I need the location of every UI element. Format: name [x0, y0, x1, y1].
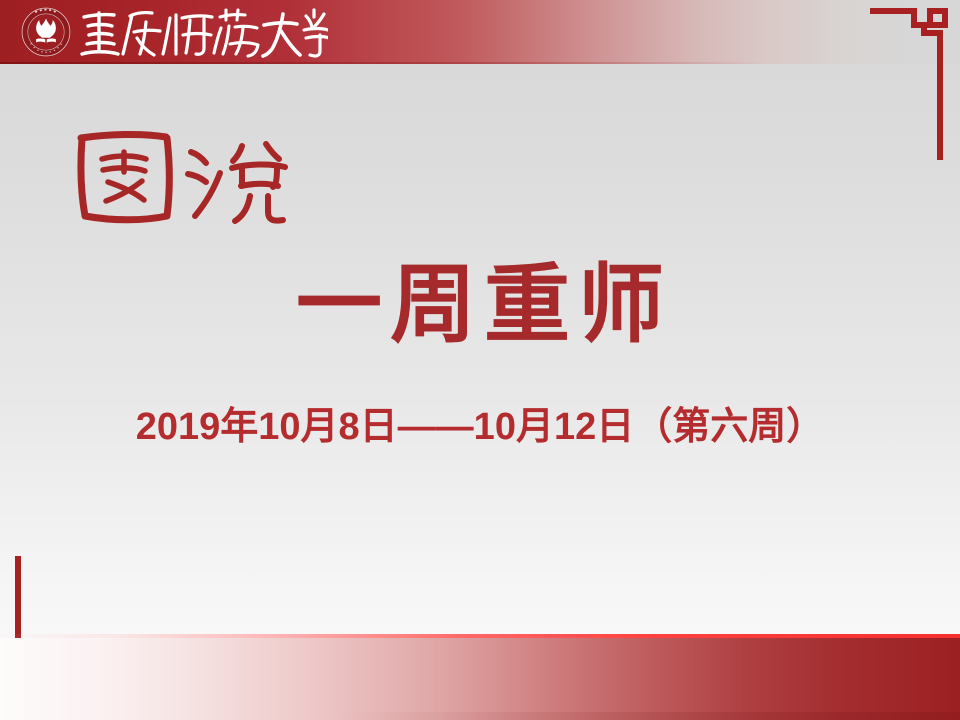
bottom-band-shadow	[0, 712, 960, 720]
university-wordmark	[78, 4, 328, 62]
brush-title	[72, 124, 322, 234]
university-seal-icon	[20, 6, 72, 58]
corner-ornament-top-right-icon	[870, 8, 948, 160]
bottom-decorative-band	[0, 634, 960, 720]
slide-date-range: 2019年10月8日——10月12日（第六周）	[0, 407, 960, 449]
presentation-slide: 一周重师 2019年10月8日——10月12日（第六周）	[0, 0, 960, 720]
bottom-band-gradient-fill	[0, 638, 960, 720]
slide-main-title: 一周重师	[0, 262, 960, 348]
